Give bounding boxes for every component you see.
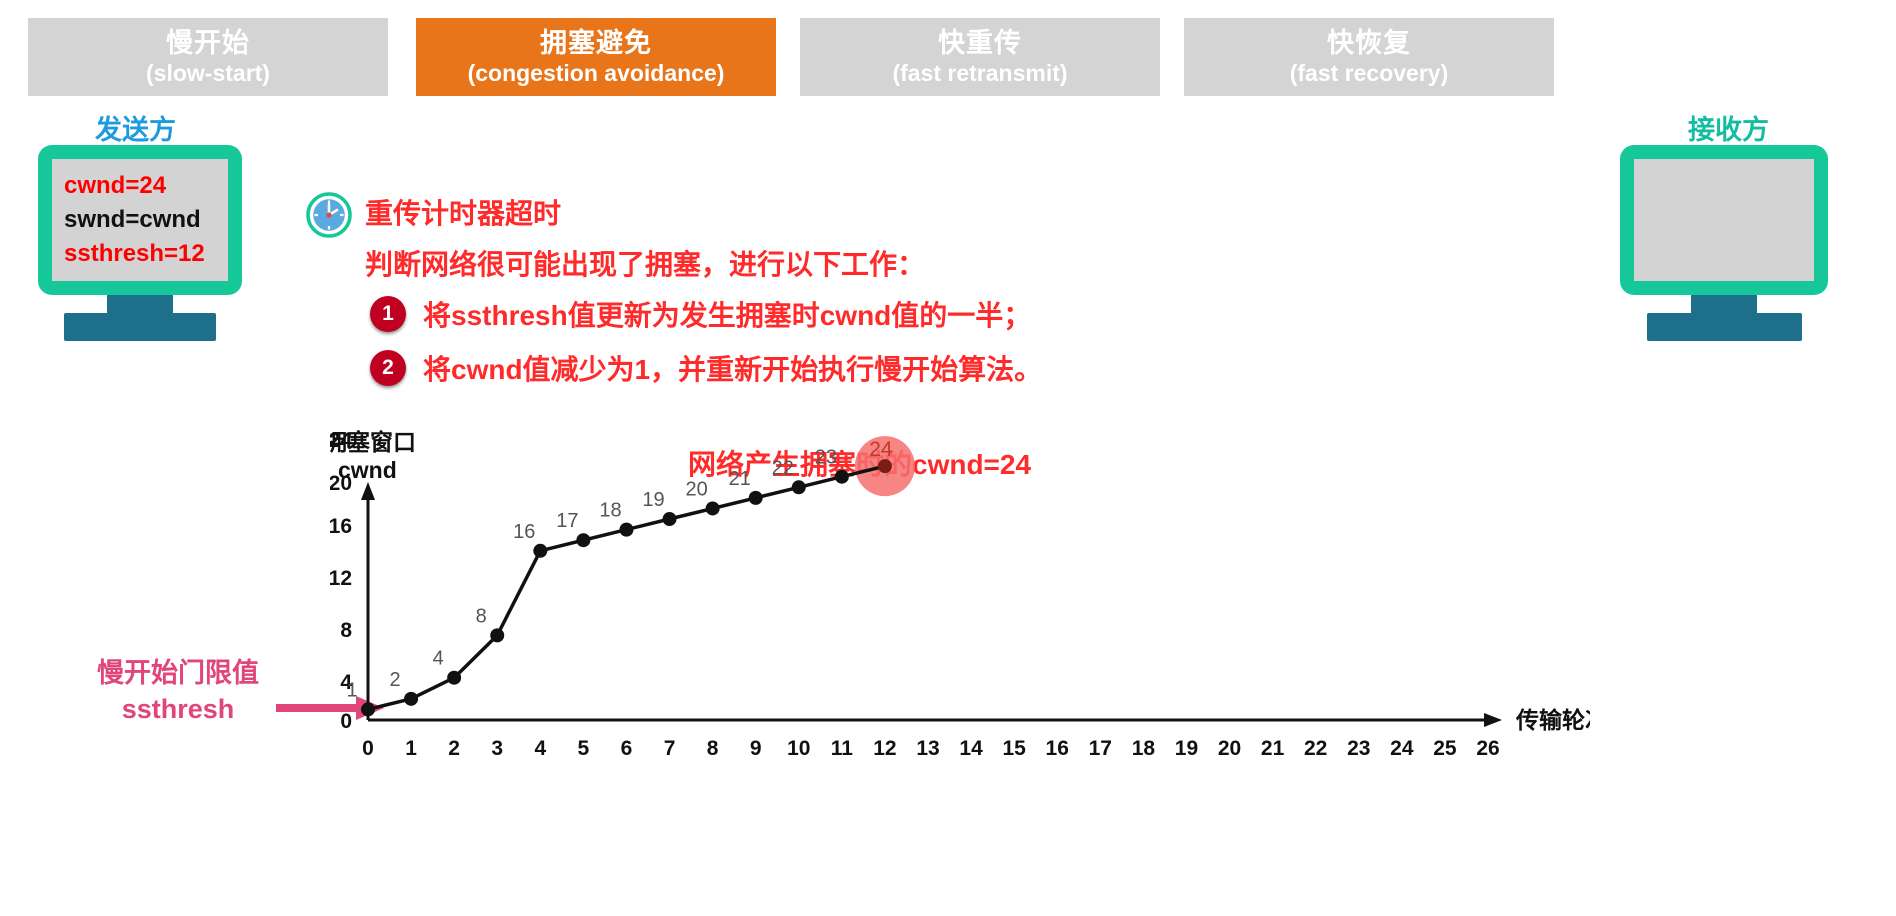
receiver-screen: [1634, 159, 1814, 281]
x-tick-4: 4: [534, 737, 546, 760]
tab-congestion-avoidance[interactable]: 拥塞避免 (congestion avoidance): [416, 18, 776, 96]
x-tick-14: 14: [959, 737, 983, 760]
x-axis-ticks: 0123456789101112131415161718192021222324…: [362, 737, 1500, 760]
tab-fast-recovery[interactable]: 快恢复 (fast recovery): [1184, 18, 1554, 96]
x-tick-23: 23: [1347, 737, 1370, 760]
sender-monitor: cwnd=24 swnd=cwnd ssthresh=12: [38, 145, 242, 295]
data-point-9: [749, 491, 763, 505]
tab-congestion-avoidance-cn: 拥塞避免: [540, 29, 652, 57]
x-tick-5: 5: [578, 737, 590, 760]
data-point-6: [619, 523, 633, 537]
x-tick-16: 16: [1046, 737, 1069, 760]
x-tick-11: 11: [831, 737, 854, 760]
tab-slow-start-en: (slow-start): [146, 61, 270, 85]
y-tick-16: 16: [330, 515, 352, 538]
tab-congestion-avoidance-en: (congestion avoidance): [468, 61, 725, 85]
event-title: 重传计时器超时: [365, 192, 561, 232]
bullet-number-1: 1: [370, 296, 406, 332]
event-subtitle: 判断网络很可能出现了拥塞，进行以下工作：: [365, 243, 925, 283]
data-point-label-6: 18: [599, 500, 621, 522]
data-point-2: [447, 671, 461, 685]
chart-axes: [361, 482, 1502, 727]
receiver-monitor: [1620, 145, 1828, 295]
y-tick-8: 8: [340, 619, 352, 642]
tab-slow-start-cn: 慢开始: [166, 29, 250, 57]
data-point-label-10: 22: [772, 457, 794, 479]
y-tick-0: 0: [340, 710, 352, 733]
x-tick-13: 13: [916, 737, 939, 760]
data-point-10: [792, 480, 806, 494]
data-point-label-12: 24: [869, 438, 893, 461]
data-point-label-4: 16: [513, 521, 535, 543]
data-point-label-11: 23: [815, 447, 837, 469]
x-tick-9: 9: [750, 737, 762, 760]
phase-tab-bar: 慢开始 (slow-start) 拥塞避免 (congestion avoida…: [0, 18, 1896, 96]
x-tick-26: 26: [1476, 737, 1499, 760]
cwnd-point-labels: 1248161718192021222324: [346, 438, 892, 701]
tab-fast-recovery-cn: 快恢复: [1327, 29, 1411, 57]
cwnd-chart: 拥塞窗口 cwnd 传输轮次 0 4 8 12 16 20 24: [330, 430, 1590, 916]
tab-slow-start[interactable]: 慢开始 (slow-start): [28, 18, 388, 96]
receiver-monitor-base: [1647, 313, 1802, 341]
sender-label: 发送方: [95, 108, 176, 147]
tab-fast-retransmit-cn: 快重传: [938, 29, 1022, 57]
x-tick-6: 6: [621, 737, 633, 760]
data-point-1: [404, 692, 418, 706]
tab-fast-retransmit-en: (fast retransmit): [892, 61, 1067, 85]
x-tick-12: 12: [873, 737, 896, 760]
x-tick-21: 21: [1261, 737, 1285, 760]
sender-computer: cwnd=24 swnd=cwnd ssthresh=12: [38, 145, 242, 341]
x-tick-7: 7: [664, 737, 676, 760]
x-tick-19: 19: [1175, 737, 1198, 760]
sender-monitor-neck: [107, 295, 173, 313]
data-point-11: [835, 470, 849, 484]
x-tick-22: 22: [1304, 737, 1327, 760]
data-point-label-9: 21: [729, 468, 751, 490]
x-tick-2: 2: [448, 737, 460, 760]
data-point-5: [576, 533, 590, 547]
cwnd-series-line: [368, 466, 885, 709]
data-point-label-7: 19: [642, 489, 664, 511]
data-point-label-5: 17: [556, 510, 578, 532]
data-point-8: [706, 501, 720, 515]
x-tick-18: 18: [1132, 737, 1156, 760]
sender-cwnd-value: cwnd=24: [64, 171, 216, 201]
receiver-computer: [1620, 145, 1828, 341]
data-point-label-1: 2: [390, 669, 401, 691]
x-tick-8: 8: [707, 737, 719, 760]
data-point-label-0: 1: [346, 679, 357, 701]
ssthresh-marker-line2: ssthresh: [68, 691, 288, 727]
ssthresh-marker-line1: 慢开始门限值: [68, 655, 288, 691]
cwnd-chart-svg: 拥塞窗口 cwnd 传输轮次 0 4 8 12 16 20 24: [330, 430, 1590, 916]
cwnd-series-points: [361, 459, 892, 716]
receiver-monitor-neck: [1691, 295, 1757, 313]
x-tick-24: 24: [1390, 737, 1414, 760]
event-action-2: 2 将cwnd值减少为1，并重新开始执行慢开始算法。: [370, 348, 1042, 388]
sender-ssthresh-value: ssthresh=12: [64, 239, 216, 269]
x-tick-3: 3: [491, 737, 503, 760]
x-tick-15: 15: [1002, 737, 1026, 760]
tab-fast-retransmit[interactable]: 快重传 (fast retransmit): [800, 18, 1160, 96]
sender-monitor-base: [64, 313, 216, 341]
data-point-0: [361, 702, 375, 716]
data-point-12: [878, 459, 892, 473]
data-point-label-2: 4: [433, 648, 444, 670]
bullet-number-2: 2: [370, 350, 406, 386]
event-action-1-text: 将ssthresh值更新为发生拥塞时cwnd值的一半；: [423, 294, 1031, 334]
event-action-2-text: 将cwnd值减少为1，并重新开始执行慢开始算法。: [423, 348, 1042, 388]
x-tick-1: 1: [405, 737, 417, 760]
event-action-1: 1 将ssthresh值更新为发生拥塞时cwnd值的一半；: [370, 294, 1031, 334]
receiver-label: 接收方: [1688, 108, 1769, 147]
x-tick-0: 0: [362, 737, 374, 760]
sender-screen: cwnd=24 swnd=cwnd ssthresh=12: [52, 159, 228, 281]
x-tick-17: 17: [1089, 737, 1112, 760]
slide-canvas: 慢开始 (slow-start) 拥塞避免 (congestion avoida…: [0, 0, 1896, 916]
tab-fast-recovery-en: (fast recovery): [1290, 61, 1449, 85]
y-tick-12: 12: [330, 567, 352, 590]
y-tick-20: 20: [330, 472, 352, 495]
data-point-3: [490, 628, 504, 642]
data-point-label-3: 8: [476, 605, 487, 627]
x-axis-title: 传输轮次: [1515, 707, 1590, 733]
x-tick-10: 10: [787, 737, 810, 760]
data-point-label-8: 20: [685, 478, 707, 500]
y-tick-24: 24: [330, 430, 352, 452]
x-tick-20: 20: [1218, 737, 1241, 760]
data-point-7: [663, 512, 677, 526]
ssthresh-marker-label: 慢开始门限值 ssthresh: [68, 655, 288, 728]
clock-icon: [306, 192, 352, 238]
data-point-4: [533, 544, 547, 558]
sender-swnd-value: swnd=cwnd: [64, 205, 216, 235]
x-tick-25: 25: [1433, 737, 1457, 760]
